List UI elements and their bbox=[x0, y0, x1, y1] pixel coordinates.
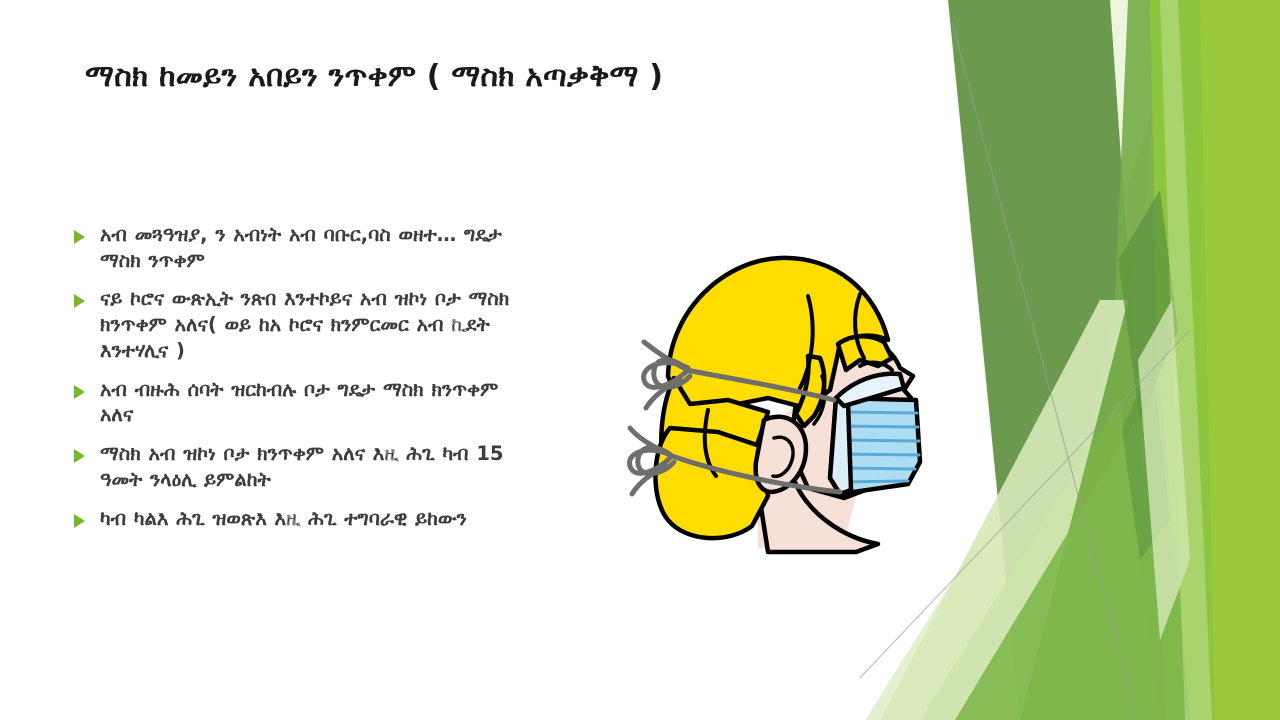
facet-shape-highlight-b bbox=[1160, 0, 1212, 720]
list-item: አብ መጓዓዝያ, ን አብነት አብ ባቡር,ባስ ወዘተ… ግዴታ ማስክ … bbox=[74, 222, 524, 273]
list-item-label: ናይ ኮሮና ውጽኢት ንጽበ እንተኮይና አብ ዝኮነ ቦታ ማስክ ክንጥ… bbox=[100, 286, 524, 363]
triangle-right-icon bbox=[74, 441, 100, 463]
facet-shape-pale-upper bbox=[1010, 0, 1160, 720]
facet-shape-mid-green bbox=[1030, 0, 1200, 720]
facet-hairline-upper bbox=[952, 22, 1138, 720]
facet-shape-highlight-a bbox=[1138, 300, 1190, 640]
mask-illustration bbox=[608, 248, 938, 560]
facet-shape-dark-accent bbox=[1118, 190, 1178, 420]
facet-shape-lime-green bbox=[1200, 0, 1280, 720]
facet-shape-bright-green bbox=[1150, 0, 1280, 720]
facet-shape-lower-mid2 bbox=[955, 380, 1190, 720]
list-item: አብ ብዙሕ ሰባት ዝርከብሉ ቦታ ግዴታ ማስክ ክንጥቀም አለና bbox=[74, 377, 524, 428]
facet-shape-dark-accent-2 bbox=[1122, 360, 1170, 560]
list-item: ማስክ አብ ዝኮነ ቦታ ክንጥቀም አለና እዚ ሕጊ ካብ 15 ዓመት … bbox=[74, 441, 524, 492]
facet-shape-light-left bbox=[970, 0, 1280, 720]
bullet-list: አብ መጓዓዝያ, ን አብነት አብ ባቡር,ባስ ወዘተ… ግዴታ ማስክ … bbox=[74, 222, 524, 544]
presentation-slide: ማስክ ከመይን አበይን ንጥቀም ( ማስክ አጣቃቅማ ) አብ መጓዓዝ… bbox=[0, 0, 1280, 720]
mask-edge-panel bbox=[830, 398, 851, 494]
list-item-label: ካብ ካልእ ሕጊ ዝወጽእ እዚ ሕጊ ተግባራዊ ይከውን bbox=[100, 506, 524, 532]
triangle-right-icon bbox=[74, 377, 100, 399]
facet-shape-lower-mid bbox=[920, 400, 1160, 720]
list-item: ካብ ካልእ ሕጊ ዝወጽእ እዚ ሕጊ ተግባራዊ ይከውን bbox=[74, 506, 524, 532]
slide-title: ማስክ ከመይን አበይን ንጥቀም ( ማስክ አጣቃቅማ ) bbox=[85, 58, 865, 96]
list-item-label: ማስክ አብ ዝኮነ ቦታ ክንጥቀም አለና እዚ ሕጊ ካብ 15 ዓመት … bbox=[100, 441, 524, 492]
facet-shape-muted-green bbox=[948, 0, 1160, 720]
list-item: ናይ ኮሮና ውጽኢት ንጽበ እንተኮይና አብ ዝኮነ ቦታ ማስክ ክንጥ… bbox=[74, 286, 524, 363]
triangle-right-icon bbox=[74, 506, 100, 528]
triangle-right-icon bbox=[74, 222, 100, 244]
list-item-label: አብ ብዙሕ ሰባት ዝርከብሉ ቦታ ግዴታ ማስክ ክንጥቀም አለና bbox=[100, 377, 524, 428]
list-item-label: አብ መጓዓዝያ, ን አብነት አብ ባቡር,ባስ ወዘተ… ግዴታ ማስክ … bbox=[100, 222, 524, 273]
hair-back-mass bbox=[655, 428, 768, 538]
triangle-right-icon bbox=[74, 286, 100, 308]
